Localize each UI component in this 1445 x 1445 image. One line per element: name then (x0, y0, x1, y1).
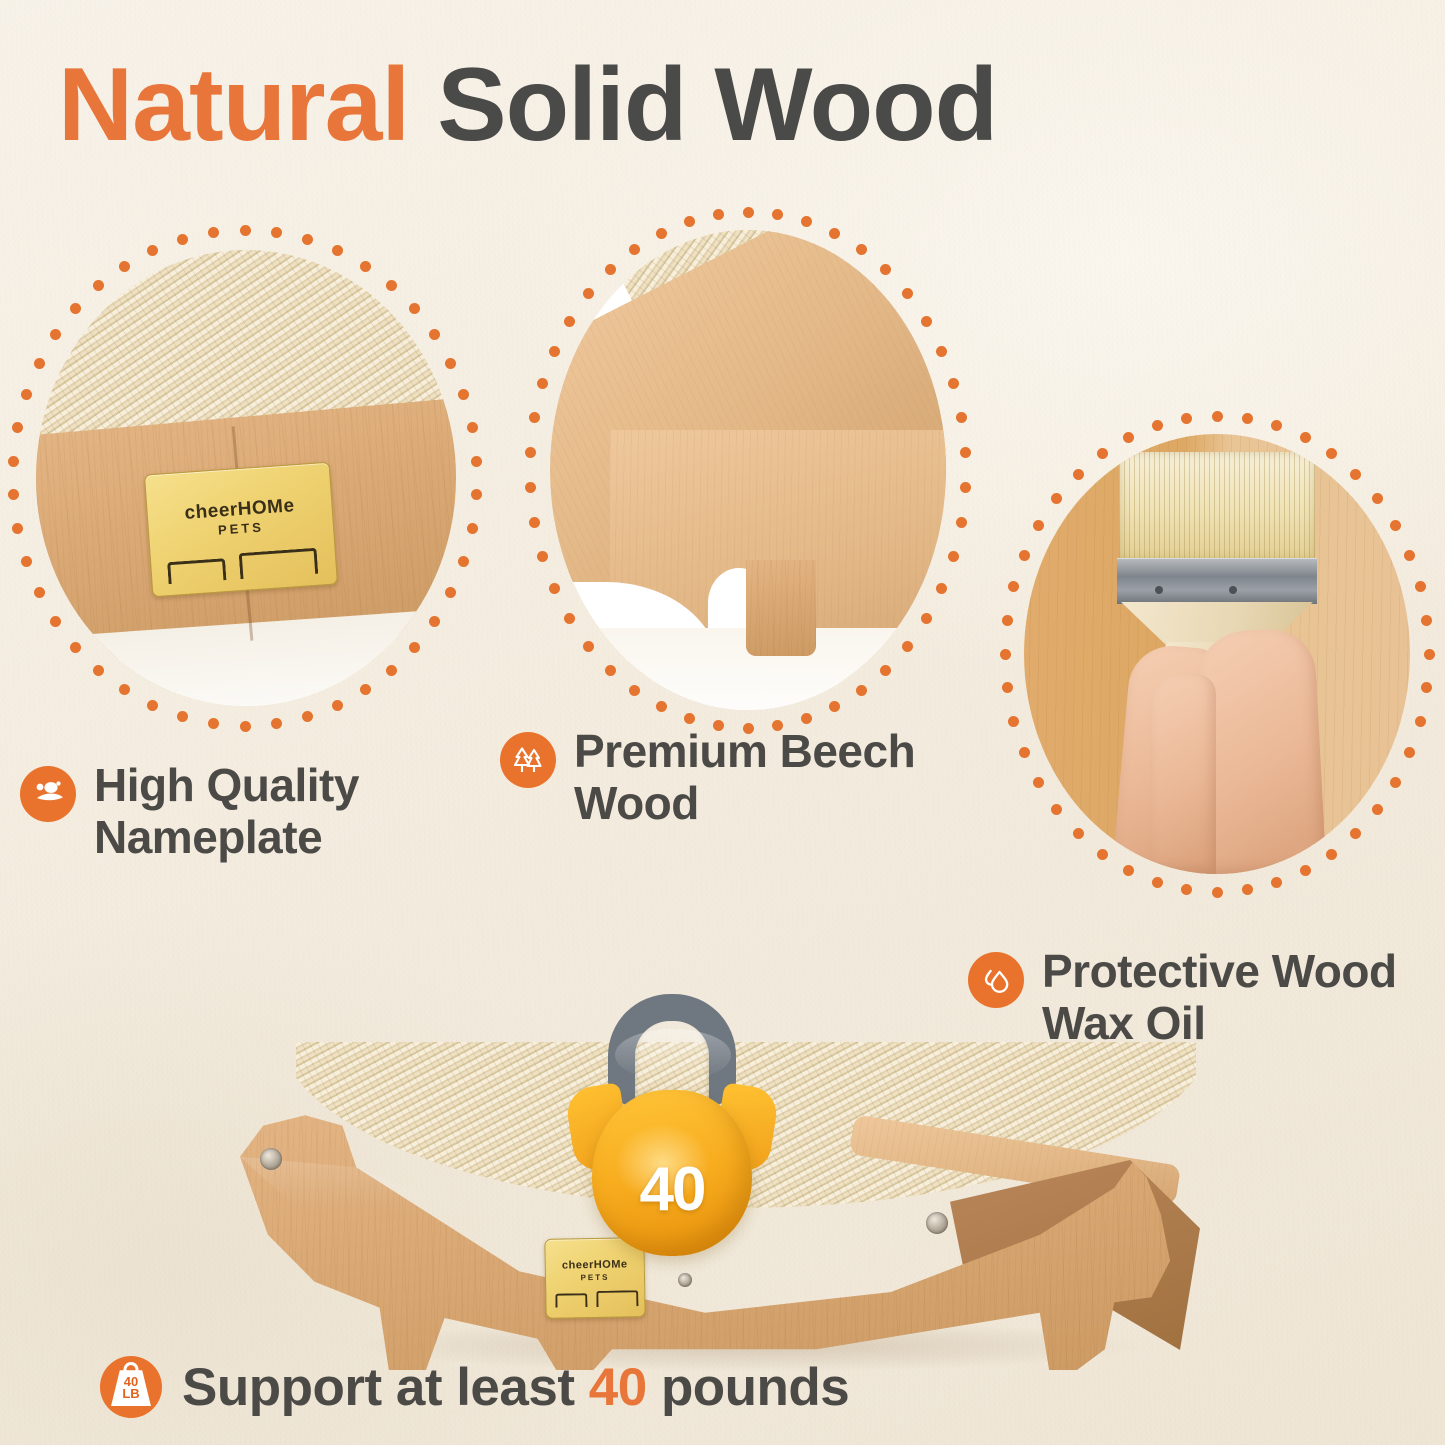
brush-ferrule (1117, 558, 1317, 604)
product-hero-image: cheerHOMe PETS 40 (210, 990, 1260, 1390)
wood-leg (746, 560, 816, 656)
support-weight-caption: 40 LB Support at least 40 pounds (100, 1356, 849, 1418)
infographic-canvas: Natural Solid Wood cheerHOMe PETS (0, 0, 1445, 1445)
feature-label-beech-wood: Premium Beech Wood (500, 726, 970, 829)
beech-wood-photo (550, 230, 946, 710)
screw-right (926, 1212, 948, 1234)
screw-center (678, 1273, 692, 1287)
title-rest: Solid Wood (437, 47, 997, 163)
caption-suffix: pounds (661, 1358, 849, 1417)
nameplate-photo: cheerHOMe PETS (36, 250, 456, 706)
feature-label-nameplate: High Quality Nameplate (20, 760, 460, 863)
caption-number: 40 (589, 1358, 647, 1417)
title-accent-word: Natural (58, 47, 409, 163)
nameplate-cat-glyph-right (239, 548, 319, 579)
ferrule-rivet-right (1229, 586, 1237, 594)
feature-line-2: Nameplate (94, 812, 359, 864)
product-nameplate-brand: cheerHOMe (546, 1258, 644, 1272)
feature-label-text: Premium Beech Wood (574, 726, 915, 829)
feature-line-2: Wood (574, 778, 915, 830)
detail-shot-nameplate: cheerHOMe PETS (10, 228, 480, 728)
weight-badge-unit: LB (122, 1388, 139, 1400)
weight-badge-body: 40 LB (111, 1370, 151, 1406)
feature-line-1: High Quality (94, 760, 359, 812)
product-nameplate-glyph-left (555, 1293, 587, 1308)
paw-sparkle-icon (20, 766, 76, 822)
wax-oil-photo (1024, 434, 1410, 874)
pine-trees-icon (500, 732, 556, 788)
product-nameplate-glyph-right (596, 1290, 638, 1307)
feature-label-text: High Quality Nameplate (94, 760, 359, 863)
brand-nameplate: cheerHOMe PETS (144, 462, 338, 598)
kettlebell-weight-value: 40 (562, 1154, 782, 1225)
product-nameplate-sub: PETS (546, 1272, 644, 1283)
nameplate-cat-glyph-left (167, 558, 226, 584)
kettlebell-weight: 40 (562, 994, 782, 1256)
screw-left (260, 1148, 282, 1170)
ferrule-rivet-left (1155, 586, 1163, 594)
brush-bristles (1119, 452, 1315, 560)
caption-prefix: Support at least (182, 1358, 575, 1417)
page-title: Natural Solid Wood (58, 48, 997, 162)
weight-badge-icon: 40 LB (100, 1356, 162, 1418)
detail-shot-wax-oil (1002, 414, 1432, 894)
detail-shot-beech-wood (528, 210, 968, 730)
feature-line-1: Premium Beech (574, 726, 915, 778)
hand-index-finger (1150, 674, 1216, 874)
caption-text: Support at least 40 pounds (182, 1357, 849, 1418)
